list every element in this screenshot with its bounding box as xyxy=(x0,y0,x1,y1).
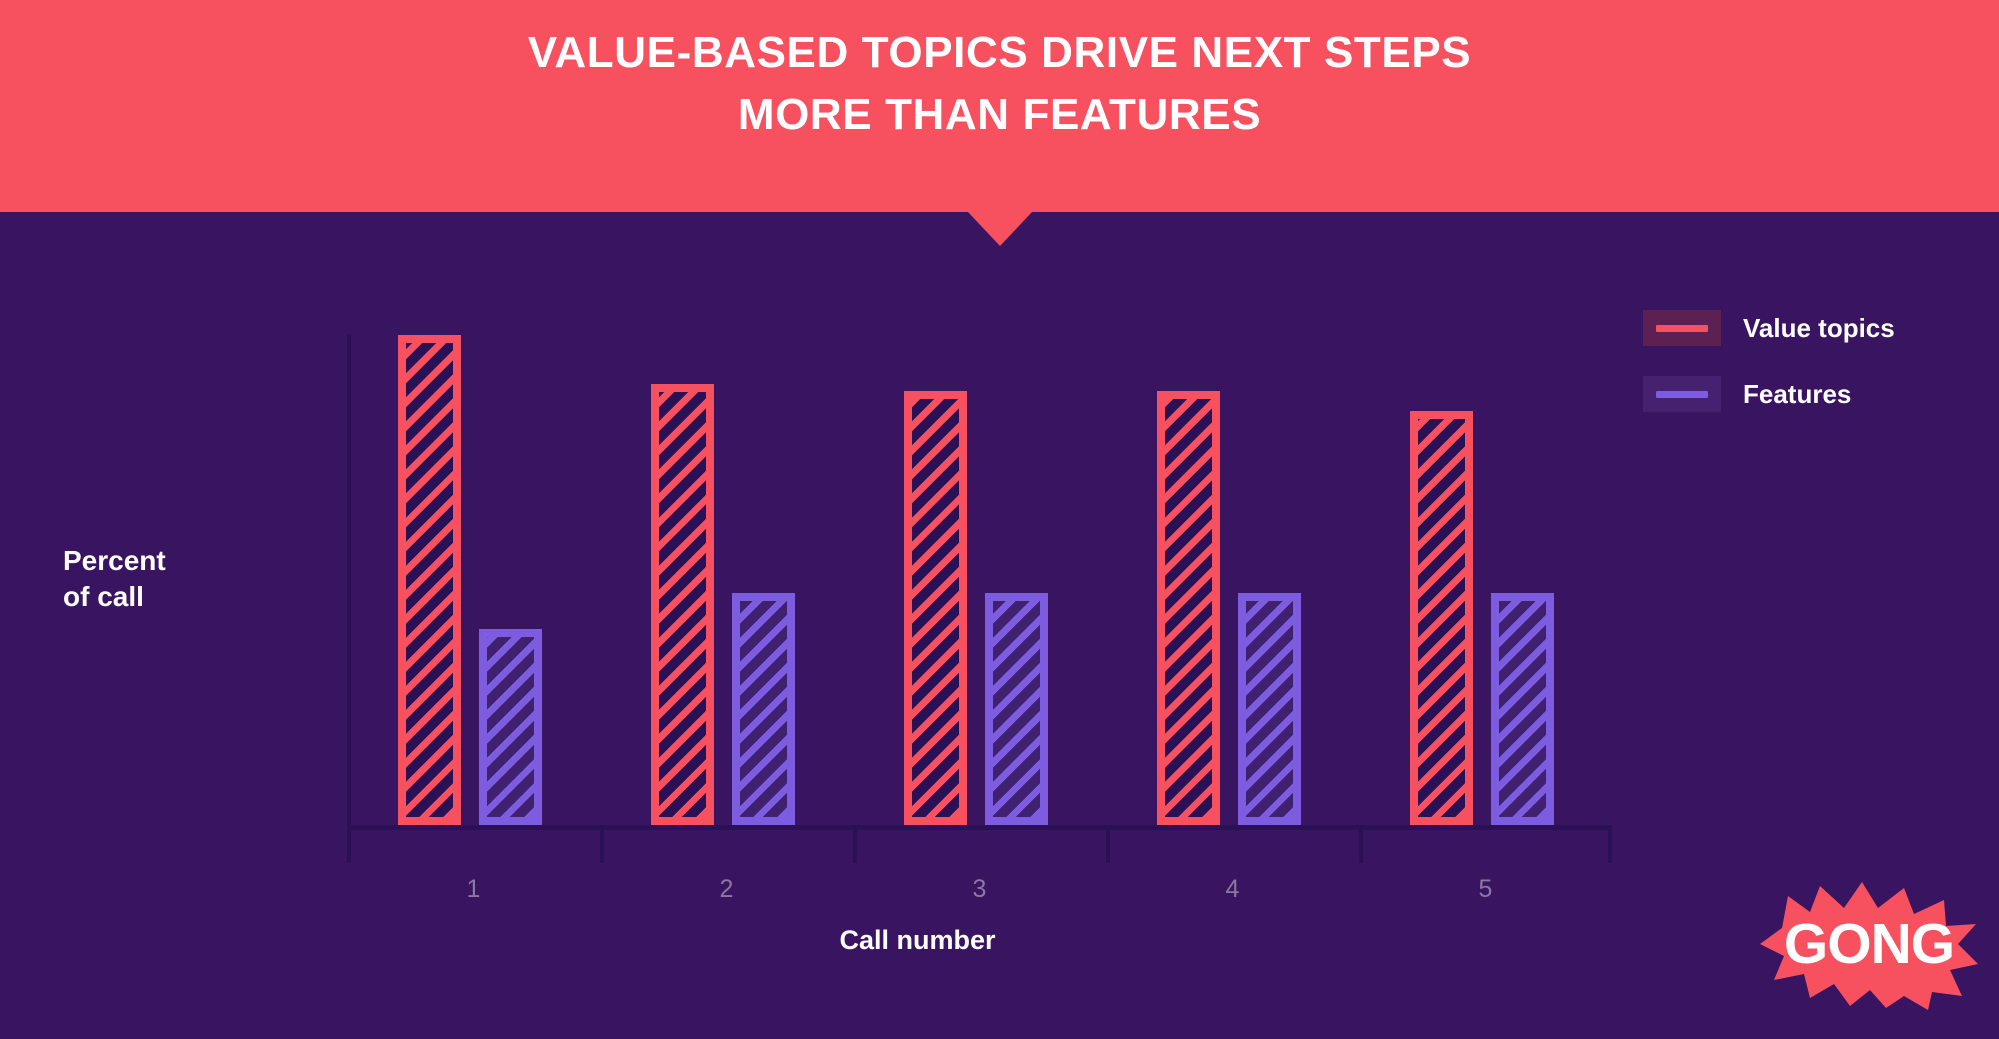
bar-group xyxy=(1359,335,1612,825)
bar-features[interactable] xyxy=(985,593,1048,825)
title-line-2: MORE THAN FEATURES xyxy=(0,84,1999,146)
chart-page: VALUE-BASED TOPICS DRIVE NEXT STEPS MORE… xyxy=(0,0,1999,1039)
x-axis-category-label: 4 xyxy=(1173,875,1293,904)
gong-logo: GONG xyxy=(1758,878,1980,1010)
y-axis-title: Percent of call xyxy=(63,543,313,615)
x-axis-tick xyxy=(1608,830,1612,863)
x-axis-tick xyxy=(1359,830,1363,863)
x-axis-title: Call number xyxy=(0,925,1999,956)
bar-group xyxy=(853,335,1106,825)
bar-group xyxy=(600,335,853,825)
legend-item-value-topics[interactable]: Value topics xyxy=(1643,310,1895,346)
x-axis-category-label: 5 xyxy=(1426,875,1546,904)
bar-features[interactable] xyxy=(1491,593,1554,825)
gong-logo-text: GONG xyxy=(1758,878,1980,1010)
x-axis-category-label: 3 xyxy=(920,875,1040,904)
x-axis-title-text: Call number xyxy=(839,925,995,956)
legend-label-value-topics: Value topics xyxy=(1743,313,1895,344)
x-axis-category-label: 1 xyxy=(414,875,534,904)
bar-features[interactable] xyxy=(1238,593,1301,825)
y-axis-title-line-2: of call xyxy=(63,579,313,615)
x-axis-tick xyxy=(853,830,857,863)
bar-value-topics[interactable] xyxy=(1157,391,1220,825)
legend-swatch-icon-value-topics xyxy=(1643,310,1721,346)
x-axis-line xyxy=(347,825,1612,830)
x-axis-tick xyxy=(1106,830,1110,863)
bar-value-topics[interactable] xyxy=(904,391,967,825)
page-title: VALUE-BASED TOPICS DRIVE NEXT STEPS MORE… xyxy=(0,22,1999,147)
legend-item-features[interactable]: Features xyxy=(1643,376,1895,412)
y-axis-title-line-1: Percent xyxy=(63,543,313,579)
bar-group xyxy=(1106,335,1359,825)
x-axis-tick xyxy=(347,830,351,863)
bar-group xyxy=(347,335,600,825)
bar-value-topics[interactable] xyxy=(398,335,461,825)
legend-label-features: Features xyxy=(1743,379,1851,410)
chart-legend: Value topics Features xyxy=(1643,310,1895,442)
title-line-1: VALUE-BASED TOPICS DRIVE NEXT STEPS xyxy=(0,22,1999,84)
header-banner: VALUE-BASED TOPICS DRIVE NEXT STEPS MORE… xyxy=(0,0,1999,212)
bar-value-topics[interactable] xyxy=(651,384,714,825)
x-axis-category-label: 2 xyxy=(667,875,787,904)
bar-value-topics[interactable] xyxy=(1410,411,1473,825)
header-pointer-triangle xyxy=(968,212,1032,246)
x-axis-tick xyxy=(600,830,604,863)
legend-swatch-icon-features xyxy=(1643,376,1721,412)
bar-features[interactable] xyxy=(732,593,795,825)
bar-features[interactable] xyxy=(479,629,542,825)
plot-area: 08.51725.534 12345 xyxy=(347,335,1612,825)
